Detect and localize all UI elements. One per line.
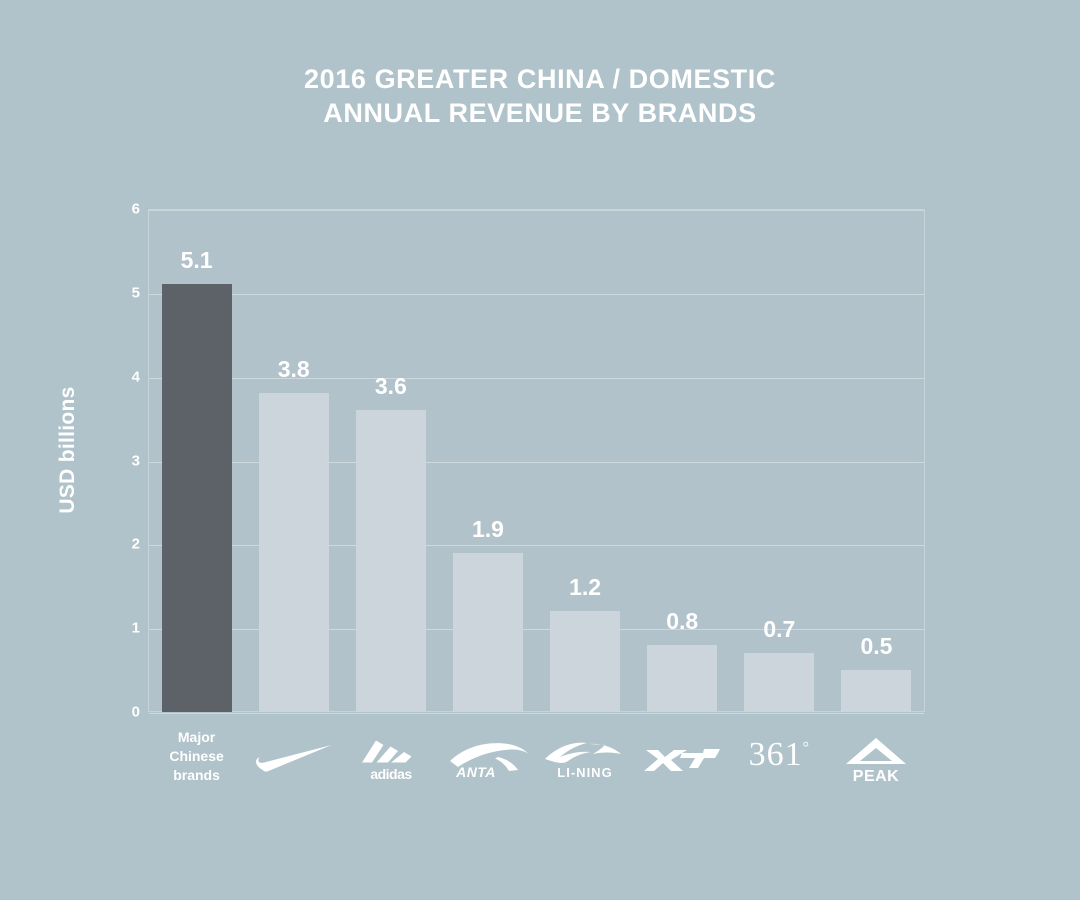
li-ning-logo-icon: LI-NING <box>543 740 627 780</box>
brand-logo-adidas: adidas <box>342 720 439 800</box>
y-tick-label-6: 6 <box>104 201 140 218</box>
bar-value-label: 3.6 <box>375 373 407 400</box>
bar-value-label: 5.1 <box>181 247 213 274</box>
x-axis-label-text: Major Chinese brands <box>169 728 223 785</box>
y-axis-ticks: 6543210 <box>96 209 140 712</box>
brand-logo-peak: PEAK <box>828 720 925 800</box>
bar[interactable] <box>647 645 717 712</box>
bar[interactable] <box>453 553 523 712</box>
svg-text:PEAK: PEAK <box>853 768 899 785</box>
y-tick-label-0: 0 <box>104 704 140 721</box>
bar[interactable] <box>259 393 329 712</box>
brand-logo-li-ning: LI-NING <box>537 720 634 800</box>
bar-value-label: 1.9 <box>472 516 504 543</box>
chart-container: 2016 GREATER CHINA / DOMESTIC ANNUAL REV… <box>0 0 1080 900</box>
bar-slot[interactable]: 3.8 <box>259 209 329 712</box>
anta-logo-icon: ANTA <box>446 740 530 780</box>
bar-slot[interactable]: 1.2 <box>550 209 620 712</box>
bar-slot[interactable]: 3.6 <box>356 209 426 712</box>
xtep-logo-icon <box>644 746 720 774</box>
bar[interactable] <box>841 670 911 712</box>
bar-value-label: 0.5 <box>860 633 892 660</box>
bar-slot[interactable]: 0.8 <box>647 209 717 712</box>
x-axis-label-slot: Major Chinese brands <box>148 712 245 822</box>
brand-logo-nike <box>245 720 342 800</box>
brand-logo-anta: ANTA <box>439 720 536 800</box>
adidas-logo-icon: adidas <box>354 738 428 782</box>
bar[interactable] <box>162 284 232 712</box>
y-tick-label-4: 4 <box>104 368 140 385</box>
y-tick-label-1: 1 <box>104 620 140 637</box>
bar-value-label: 0.8 <box>666 608 698 635</box>
bar-series: 5.13.83.61.91.20.80.70.5 <box>148 209 925 712</box>
y-tick-label-3: 3 <box>104 452 140 469</box>
brand-361-logo-icon: 361° <box>749 738 810 772</box>
x-axis-label-slot: LI-NING <box>537 712 634 822</box>
bar-slot[interactable]: 5.1 <box>162 209 232 712</box>
bar-slot[interactable]: 0.5 <box>841 209 911 712</box>
x-axis-label-slot: adidas <box>342 712 439 822</box>
y-axis-title: USD billions <box>56 386 80 513</box>
svg-text:adidas: adidas <box>370 766 412 782</box>
peak-logo-icon: PEAK <box>840 736 912 784</box>
x-axis-label-slot <box>245 712 342 822</box>
x-axis-label-slot: ANTA <box>439 712 536 822</box>
svg-text:ANTA: ANTA <box>455 764 496 780</box>
nike-swoosh-icon <box>256 745 332 775</box>
y-axis-title-wrap: USD billions <box>48 330 88 570</box>
chart-title: 2016 GREATER CHINA / DOMESTIC ANNUAL REV… <box>0 62 1080 130</box>
bar-slot[interactable]: 1.9 <box>453 209 523 712</box>
bar[interactable] <box>550 611 620 712</box>
x-axis-label-slot: PEAK <box>828 712 925 822</box>
x-axis-label-slot <box>634 712 731 822</box>
bar[interactable] <box>356 410 426 712</box>
svg-text:LI-NING: LI-NING <box>557 765 612 780</box>
bar-slot[interactable]: 0.7 <box>744 209 814 712</box>
bar-value-label: 0.7 <box>763 616 795 643</box>
bar-value-label: 1.2 <box>569 574 601 601</box>
y-tick-label-2: 2 <box>104 536 140 553</box>
x-axis-labels: Major Chinese brandsadidasANTALI-NING361… <box>148 712 925 832</box>
brand-logo-xtep <box>634 720 731 800</box>
x-axis-label-slot: 361° <box>731 712 828 822</box>
y-tick-label-5: 5 <box>104 284 140 301</box>
bar[interactable] <box>744 653 814 712</box>
bar-value-label: 3.8 <box>278 356 310 383</box>
